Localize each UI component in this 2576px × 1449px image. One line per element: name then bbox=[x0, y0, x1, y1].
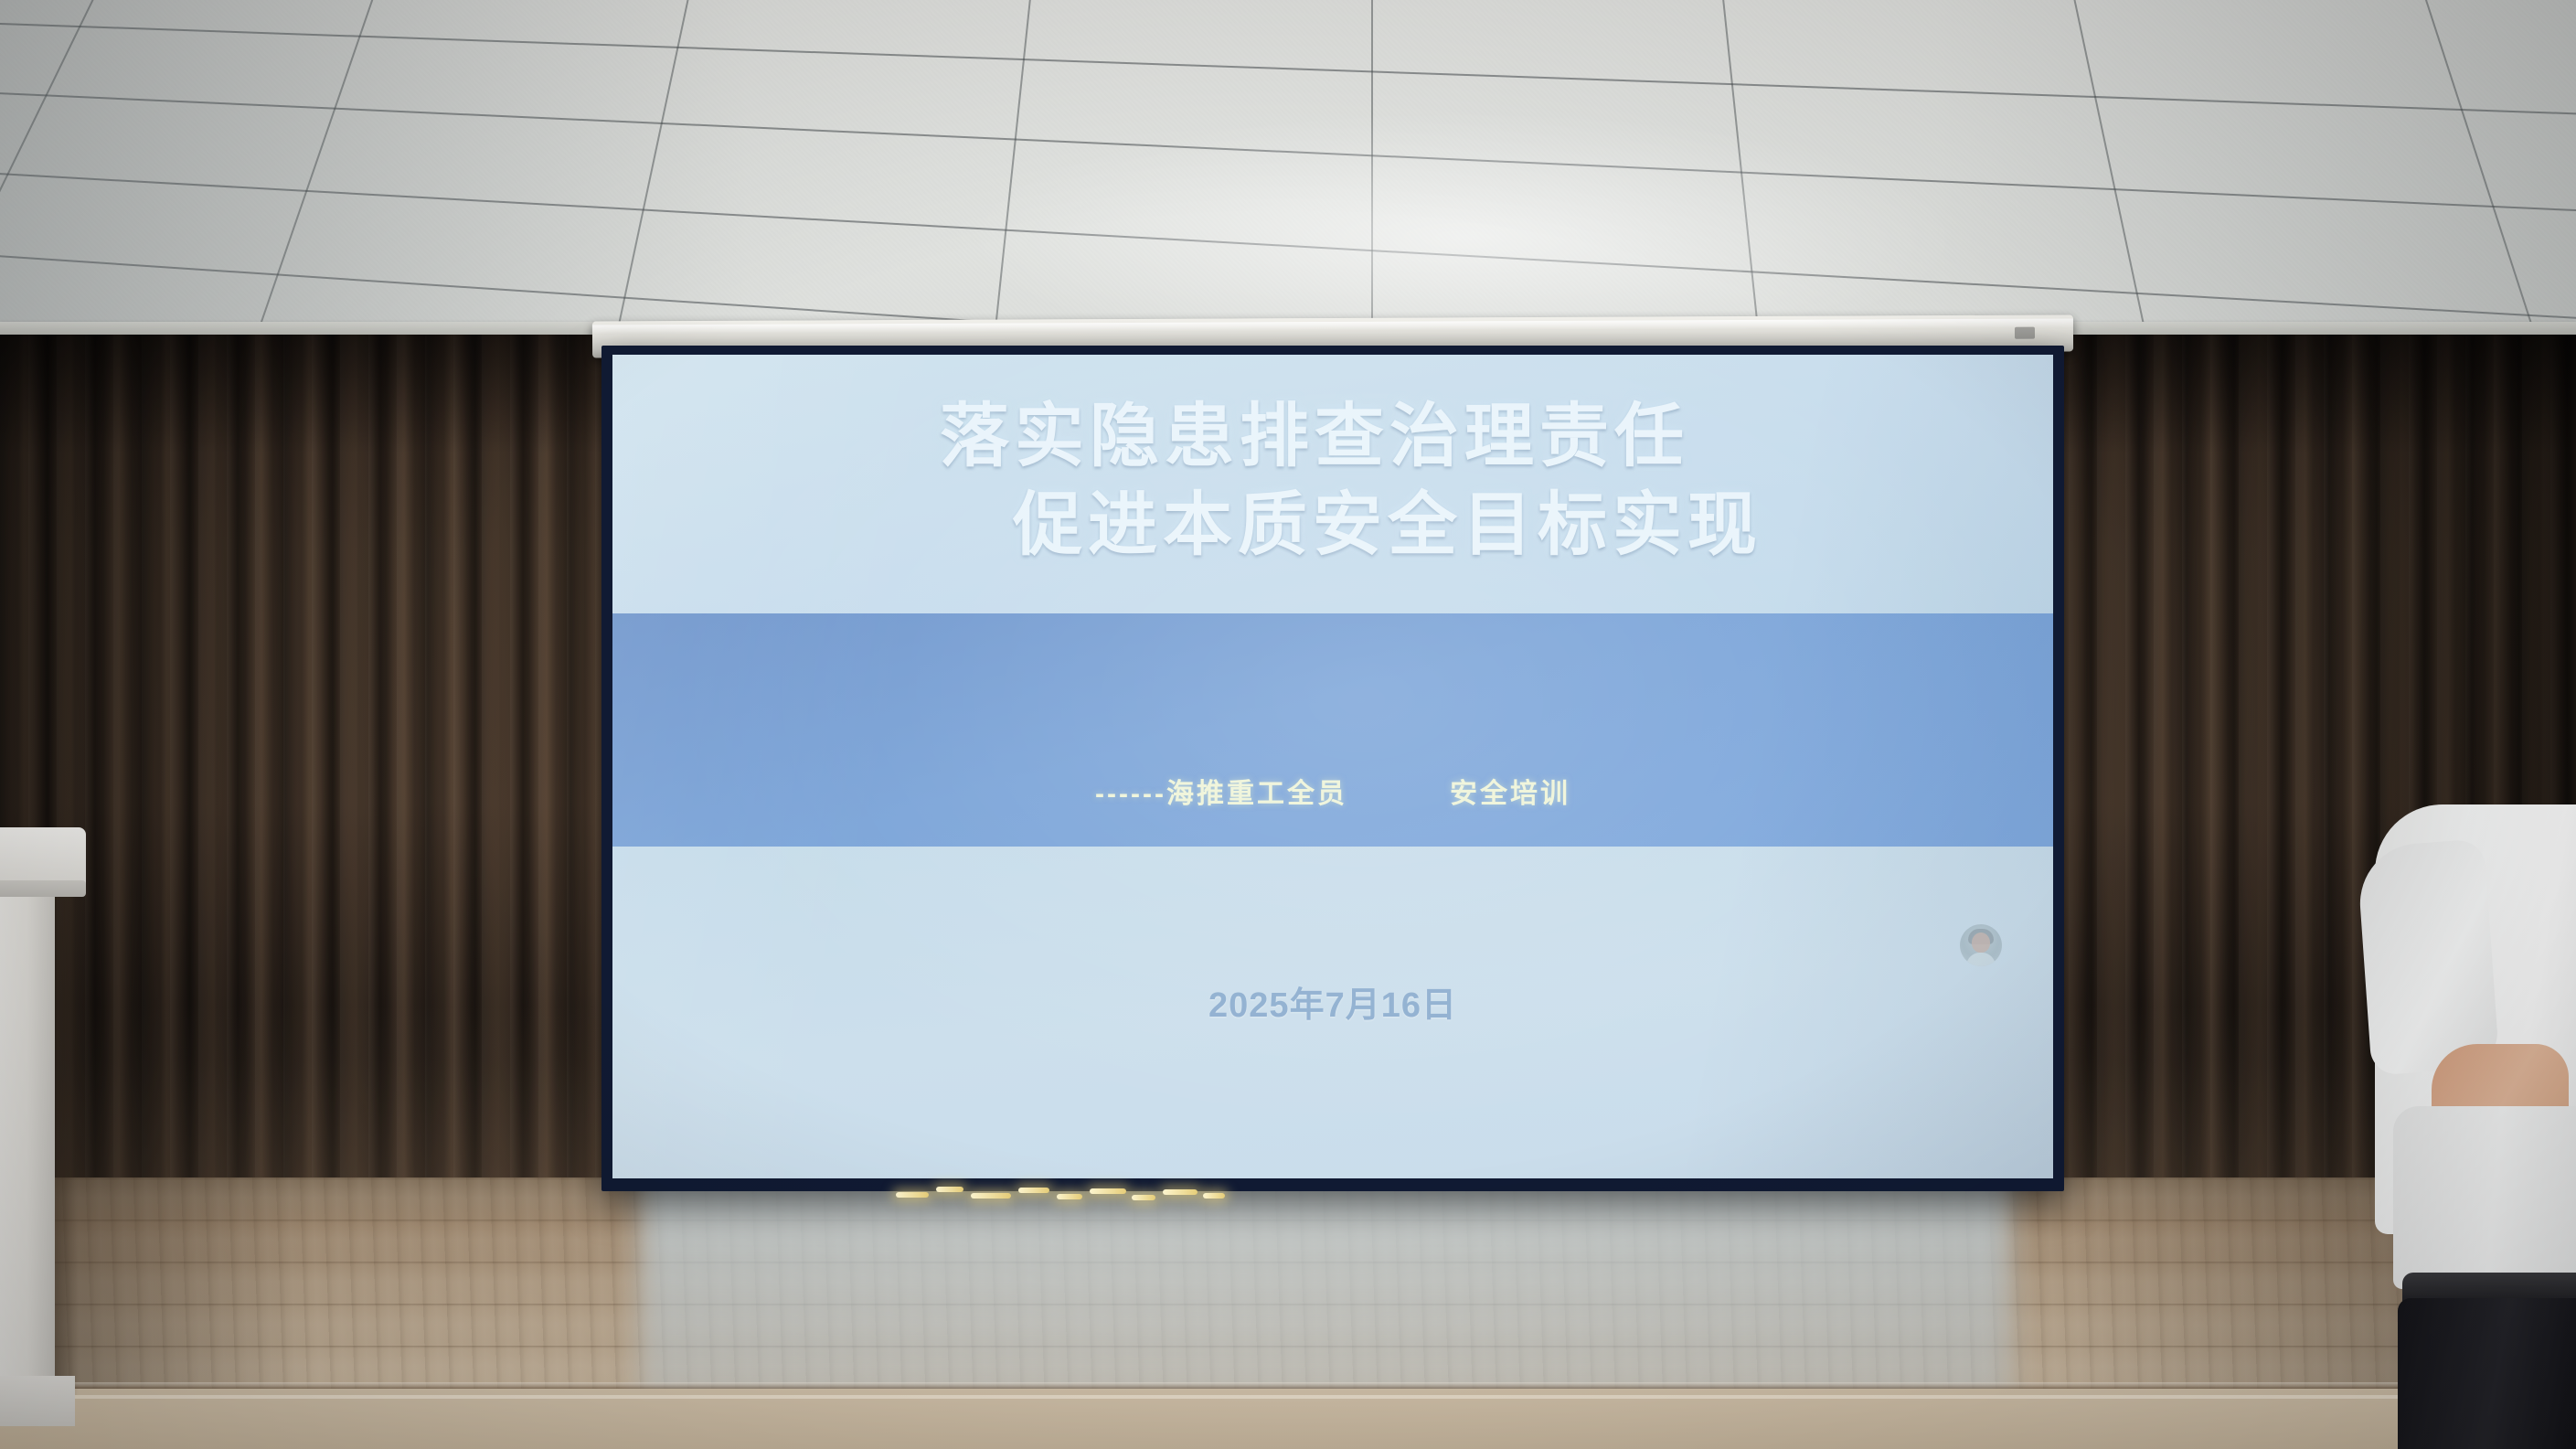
person-shirt-hem bbox=[2393, 1106, 2576, 1289]
lectern-base bbox=[0, 1376, 75, 1426]
lectern bbox=[0, 827, 90, 1449]
slide-date: 2025年7月16日 bbox=[612, 976, 2053, 1027]
stage-edge-highlight bbox=[0, 1395, 2576, 1399]
ceiling-shading-left bbox=[0, 0, 750, 366]
suspended-ceiling bbox=[0, 0, 2576, 366]
projection-screen-surface: 落实隐患排查治理责任 促进本质安全目标实现 ------海推重工全员 安全培训 … bbox=[612, 355, 2053, 1178]
ceiling-shading-right bbox=[1936, 0, 2576, 366]
slide-band-middle bbox=[612, 613, 2053, 847]
slide-subtitle-right: 安全培训 bbox=[1450, 771, 1570, 811]
slide-subtitle-left: ------海推重工全员 bbox=[1095, 771, 1347, 811]
lectern-lip bbox=[0, 880, 86, 897]
conference-room-photo: 落实隐患排查治理责任 促进本质安全目标实现 ------海推重工全员 安全培训 … bbox=[0, 0, 2576, 1449]
housing-label-icon bbox=[2015, 327, 2035, 339]
slide-title-line-2: 促进本质安全目标实现 bbox=[612, 481, 2053, 570]
wooden-stage-floor bbox=[0, 1177, 2576, 1449]
person-trousers bbox=[2398, 1298, 2576, 1449]
slide-subtitle-row: ------海推重工全员 安全培训 bbox=[612, 771, 2053, 811]
housing-highlight bbox=[592, 318, 2073, 334]
avatar-head bbox=[1972, 932, 1990, 953]
projection-screen[interactable]: 落实隐患排查治理责任 促进本质安全目标实现 ------海推重工全员 安全培训 … bbox=[601, 346, 2064, 1191]
stage-edge bbox=[0, 1382, 2576, 1389]
presentation-slide: 落实隐患排查治理责任 促进本质安全目标实现 ------海推重工全员 安全培训 … bbox=[612, 355, 2053, 1178]
lectern-shadow bbox=[55, 897, 79, 1395]
slide-title-block: 落实隐患排查治理责任 促进本质安全目标实现 bbox=[612, 392, 2053, 570]
avatar-body bbox=[1966, 953, 1996, 966]
slide-title-line-1: 落实隐患排查治理责任 bbox=[612, 392, 2053, 481]
lectern-column bbox=[0, 897, 55, 1381]
person-sleeve bbox=[2356, 838, 2499, 1075]
standing-person bbox=[2366, 804, 2576, 1449]
